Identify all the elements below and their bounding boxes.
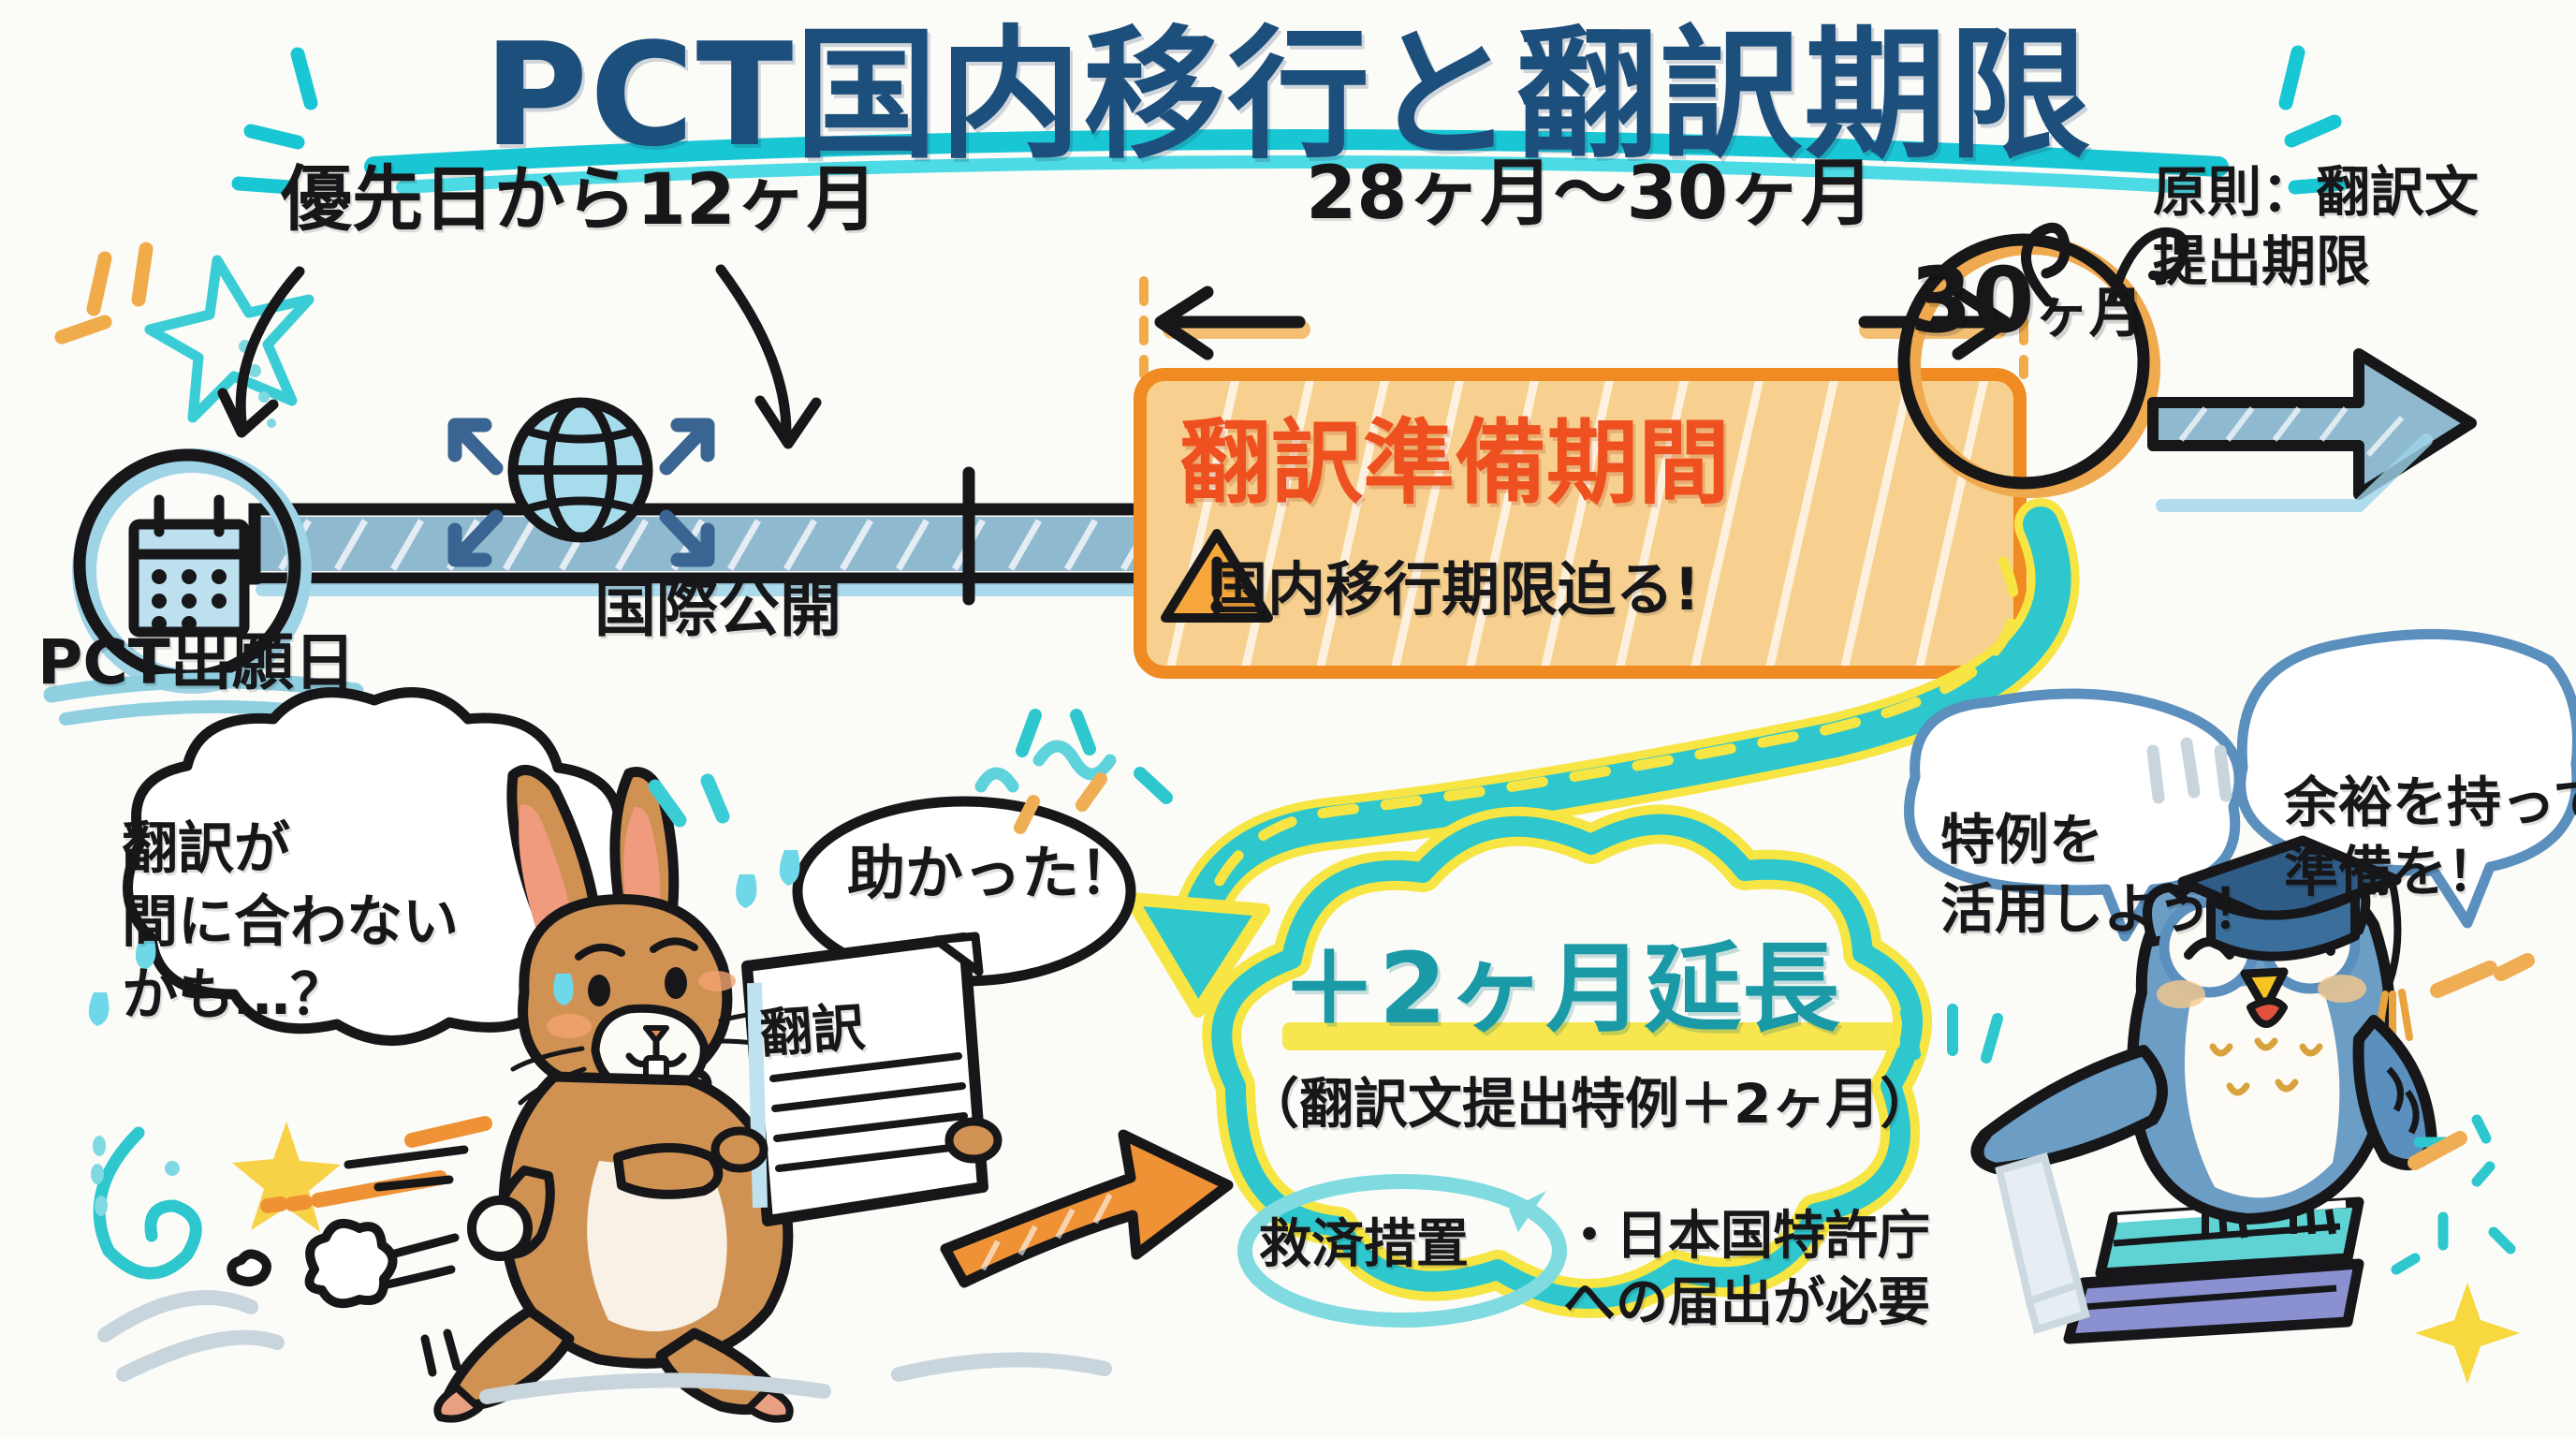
owl-right-line-1: 余裕を持って (2284, 770, 2576, 834)
thirty-month-unit: ヶ月 (2035, 281, 2144, 345)
thought-line-3: かも…？ (122, 962, 346, 1028)
rabbit-thought-text: 翻訳が間に合わないかも…？ (122, 813, 459, 1032)
page-title: PCT国内移行と翻訳期限 (0, 19, 2576, 172)
thought-line-1: 翻訳が (122, 816, 290, 882)
extension-note: ・日本国特許庁への届出が必要 (1563, 1204, 1930, 1336)
translation-document-icon (747, 936, 983, 1221)
annotation-line-1: 原則：翻訳文 (2153, 160, 2479, 224)
priority-span-label: 優先日から12ヶ月 (281, 161, 878, 238)
translation-deadline-annotation: 原則：翻訳文提出期限 (2153, 157, 2479, 296)
thirty-month-label: 30ヶ月 (1910, 253, 2134, 350)
dust-puff-icon (231, 1224, 392, 1303)
extension-headline: ＋2ヶ月延長 (1281, 936, 1840, 1041)
owl-right-line-2: 準備を！ (2284, 840, 2501, 903)
thirty-month-value: 30 (1910, 248, 2035, 353)
stacked-books-icon (2069, 1202, 2359, 1339)
cyan-swirl-icon (99, 1133, 196, 1273)
thought-line-2: 間に合わない (122, 889, 459, 955)
pct-filing-date-label: PCT出願日 (37, 629, 356, 696)
translation-prep-heading: 翻訳準備期間 (1179, 415, 1730, 514)
note-line-1: ・日本国特許庁 (1563, 1206, 1930, 1267)
owl-bubble-right-text: 余裕を持って準備を！ (2284, 768, 2576, 906)
calendar-icon (134, 500, 244, 632)
relief-badge-label: 救済措置 (1259, 1217, 1469, 1273)
right-arrow-icon (2153, 354, 2471, 506)
note-line-2: への届出が必要 (1563, 1272, 1930, 1333)
yellow-star-icon (2415, 1283, 2520, 1384)
owl-bubble-left-text: 特例を活用しよう！ (1940, 805, 2266, 944)
orange-dash-icon (62, 249, 146, 337)
owl-left-line-2: 活用しよう！ (1940, 877, 2266, 941)
international-publication-label: 国際公開 (594, 576, 842, 642)
annotation-line-2: 提出期限 (2153, 229, 2370, 293)
globe-icon (513, 403, 648, 537)
deadline-warning-text: 国内移行期限迫る! (1209, 559, 1700, 622)
extension-subtitle: （翻訳文提出特例＋2ヶ月） (1245, 1075, 1934, 1134)
range-label: 28ヶ月〜30ヶ月 (1306, 154, 1874, 233)
infographic-canvas: PCT国内移行と翻訳期限 優先日から12ヶ月 国際公開 PCT出願日 28ヶ月〜… (0, 0, 2576, 1438)
range-arrow-left (1161, 292, 1299, 354)
document-label: 翻訳 (758, 1000, 867, 1064)
marker-pen-icon (1999, 1157, 2086, 1329)
owl-left-line-1: 特例を (1940, 808, 2103, 872)
rabbit-speech-text: 助かった！ (847, 843, 1137, 905)
yellow-star-icon (232, 1122, 341, 1232)
